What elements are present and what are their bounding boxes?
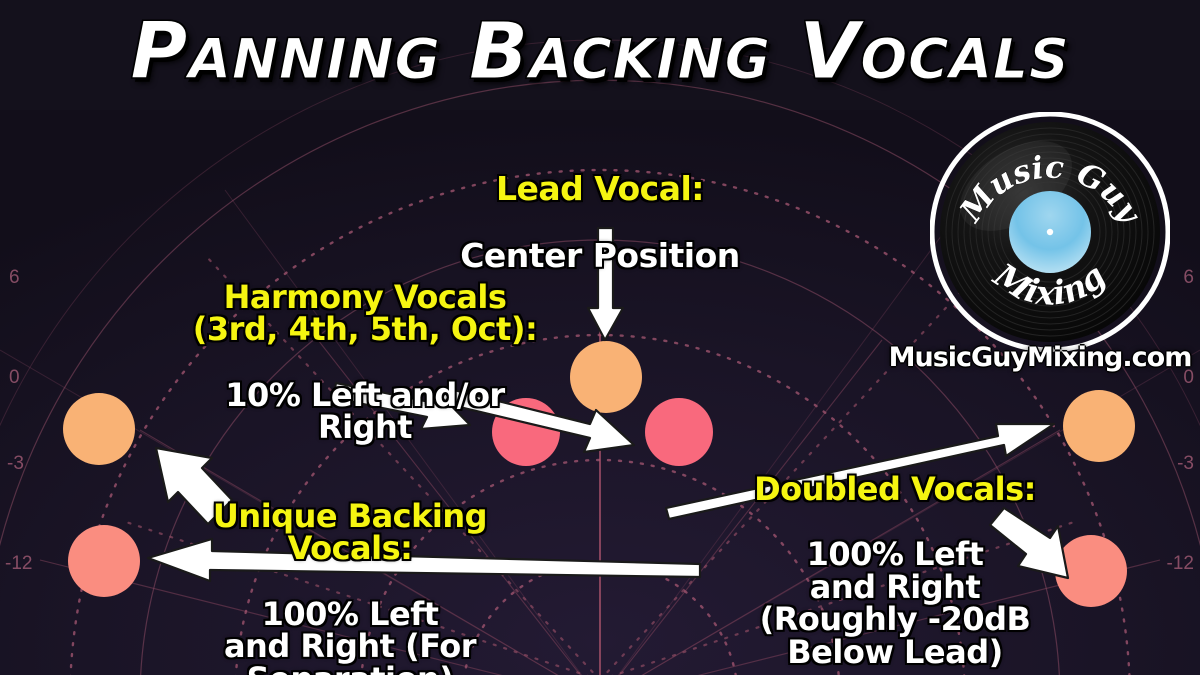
svg-text:-12: -12	[1167, 553, 1194, 574]
annotation-unique-body: 100% Left and Right (For Separation)	[180, 598, 520, 675]
dot-far-right-orange	[1063, 390, 1135, 462]
page-title: Panning Backing Vocals	[0, 4, 1200, 100]
svg-text:6: 6	[1183, 267, 1194, 288]
dot-far-left-salmon	[68, 525, 140, 597]
annotation-doubled-vocals: Doubled Vocals: 100% Left and Right (Rou…	[740, 440, 1050, 675]
annotation-harmony-body: 10% Left and/or Right	[150, 379, 580, 444]
dot-far-right-salmon	[1055, 535, 1127, 607]
svg-text:0: 0	[9, 367, 20, 388]
annotation-doubled-body: 100% Left and Right (Roughly -20dB Below…	[740, 538, 1050, 669]
svg-text:6: 6	[9, 267, 20, 288]
annotation-harmony-heading: Harmony Vocals (3rd, 4th, 5th, Oct):	[150, 281, 580, 346]
annotation-unique-heading: Unique Backing Vocals:	[180, 500, 520, 565]
svg-text:-3: -3	[1177, 453, 1194, 474]
svg-text:-3: -3	[7, 453, 24, 474]
dot-lead-center	[570, 341, 642, 413]
annotation-doubled-heading: Doubled Vocals:	[740, 473, 1050, 506]
logo-website-url: MusicGuyMixing.com	[880, 342, 1200, 373]
annotation-harmony-vocals: Harmony Vocals (3rd, 4th, 5th, Oct): 10%…	[150, 248, 580, 476]
infographic-canvas: 6 0 -3 -12 6 0 -3 -12	[0, 0, 1200, 675]
annotation-unique-backing-vocals: Unique Backing Vocals: 100% Left and Rig…	[180, 467, 520, 675]
annotation-lead-heading: Lead Vocal:	[420, 172, 780, 206]
vinyl-record-logo: Music Guy Mixing	[930, 112, 1170, 352]
vinyl-spindle-hole	[1047, 229, 1053, 235]
dot-far-left-orange	[63, 393, 135, 465]
dot-harmony-right	[645, 398, 713, 466]
svg-text:-12: -12	[5, 553, 32, 574]
